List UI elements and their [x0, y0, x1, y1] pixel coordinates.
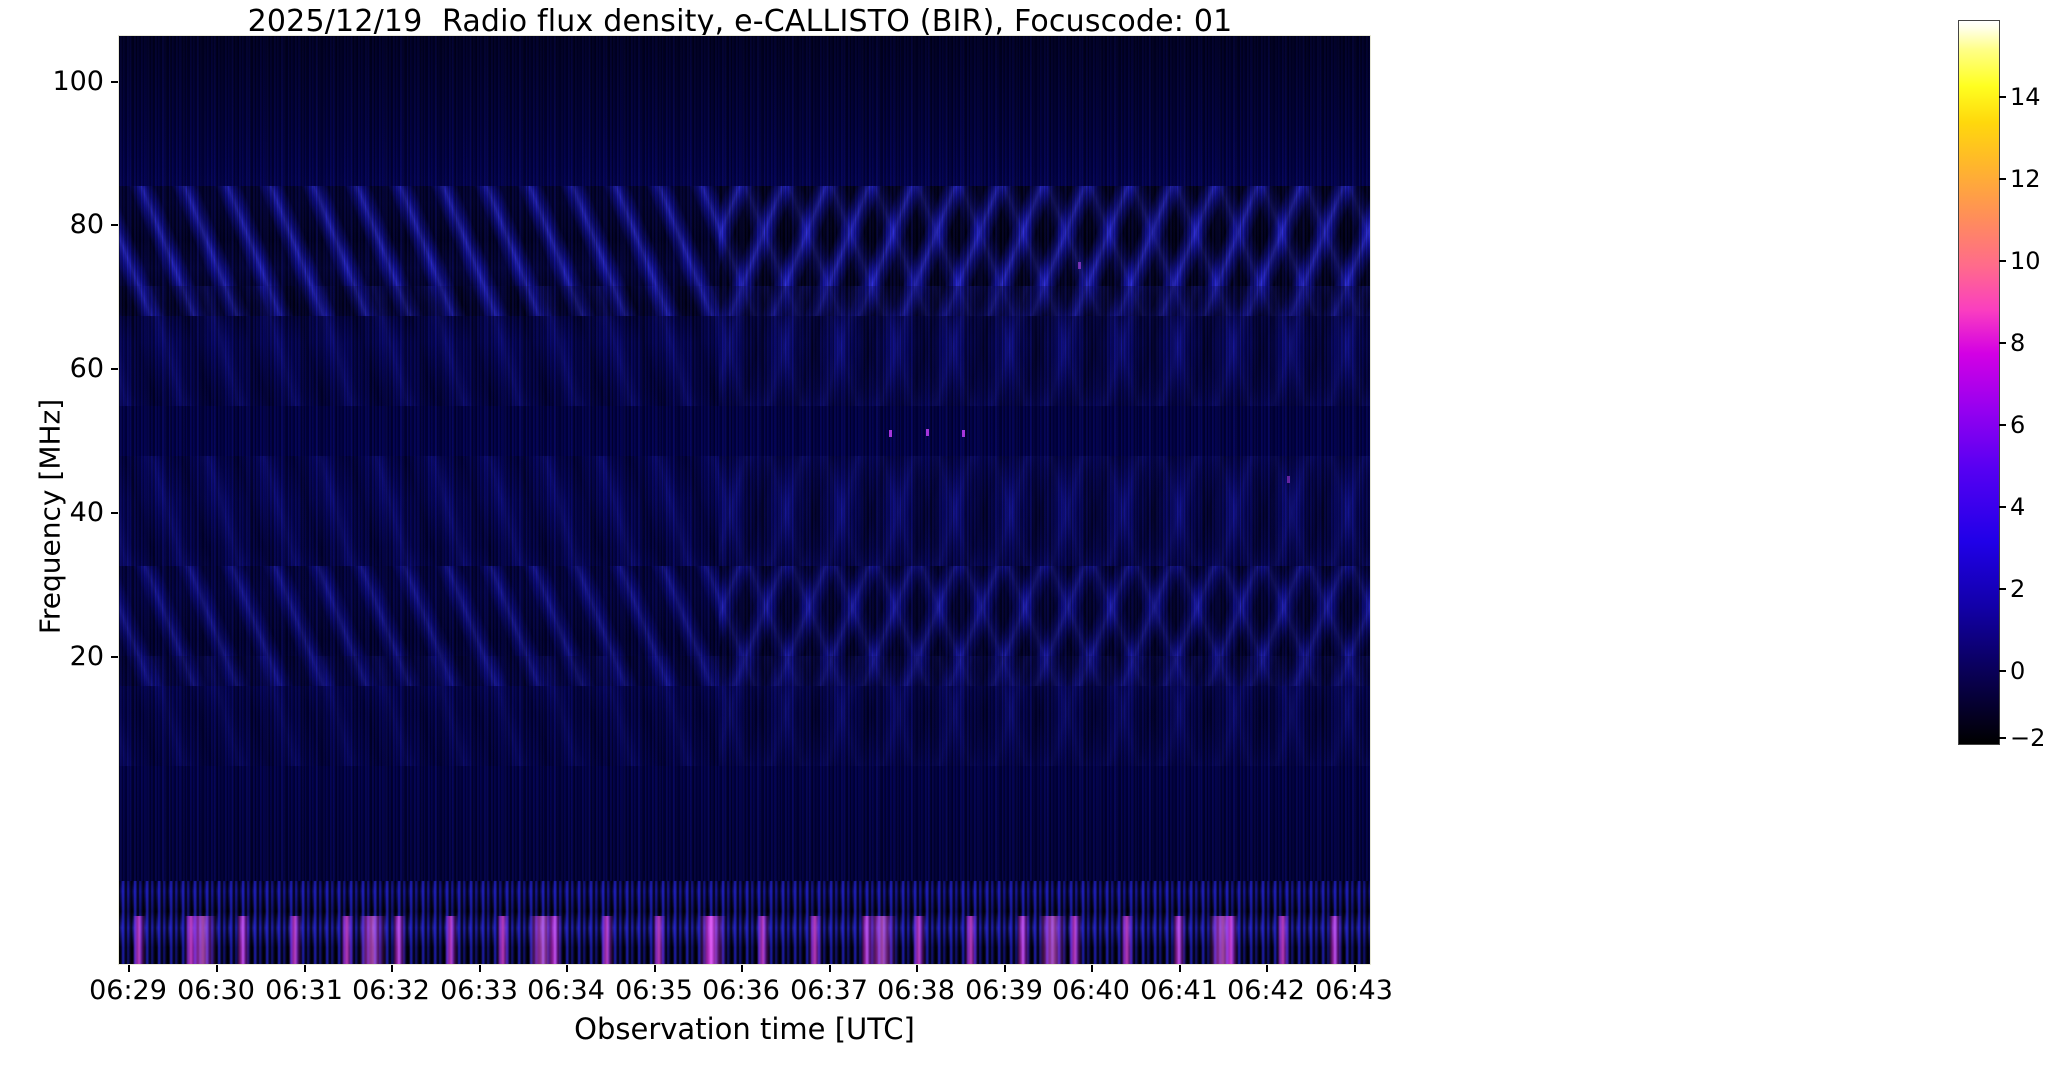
x-tick-mark — [391, 965, 393, 972]
colorbar-tick-mark — [1999, 260, 2006, 262]
hot-pixel — [1287, 476, 1290, 483]
x-tick-label: 06:43 — [1289, 977, 1419, 1004]
colorbar-tick-mark — [1999, 670, 2006, 672]
colorbar-tick-label: −2 — [2010, 726, 2056, 750]
y-axis-label: Frequency [MHz] — [34, 267, 67, 767]
colorbar-tick-label: 14 — [2010, 85, 2056, 109]
colorbar-tick-mark — [1999, 96, 2006, 98]
x-tick-mark — [1091, 965, 1093, 972]
x-tick-mark — [829, 965, 831, 972]
spectrogram-noise-speckle — [119, 36, 1370, 964]
page-title: 2025/12/19 Radio flux density, e-CALLIST… — [0, 4, 1480, 39]
y-tick-label: 80 — [18, 211, 104, 238]
colorbar-tick-mark — [1999, 178, 2006, 180]
fringe-band-upper-left — [118, 186, 1371, 316]
hot-pixel — [1078, 262, 1081, 269]
colorbar-tick-label: 2 — [2010, 577, 2056, 601]
colorbar-tick-label: 4 — [2010, 495, 2056, 519]
fringe-band-lower-left — [118, 566, 1371, 686]
fringe-band-lower-right — [719, 566, 1371, 686]
rfi-band-hot-spots — [119, 916, 1370, 965]
x-tick-mark — [566, 965, 568, 972]
hot-pixel — [926, 429, 929, 436]
fringe-band-bottom-left — [118, 656, 1371, 766]
fringe-band-mid-left — [118, 456, 1371, 566]
y-tick-mark — [111, 512, 118, 514]
colorbar-tick-mark — [1999, 506, 2006, 508]
figure-canvas: 2025/12/19 Radio flux density, e-CALLIST… — [0, 0, 2066, 1067]
x-tick-mark — [654, 965, 656, 972]
colorbar-tick-mark — [1999, 342, 2006, 344]
y-tick-mark — [111, 656, 118, 658]
y-tick-mark — [111, 368, 118, 370]
colorbar[interactable] — [1958, 20, 2000, 745]
fringe-band-mid-right — [719, 456, 1371, 566]
x-tick-mark — [916, 965, 918, 972]
colorbar-tick-mark — [1999, 588, 2006, 590]
colorbar-tick-label: 8 — [2010, 331, 2056, 355]
spectrogram-quiet-high-band — [119, 36, 1370, 964]
x-tick-mark — [1266, 965, 1268, 972]
x-tick-mark — [479, 965, 481, 972]
x-tick-mark — [128, 965, 130, 972]
hot-pixel — [889, 430, 892, 437]
x-tick-mark — [304, 965, 306, 972]
x-tick-mark — [1354, 965, 1356, 972]
colorbar-tick-mark — [1999, 424, 2006, 426]
colorbar-tick-label: 12 — [2010, 167, 2056, 191]
colorbar-tick-label: 0 — [2010, 659, 2056, 683]
y-tick-mark — [111, 224, 118, 226]
x-tick-mark — [216, 965, 218, 972]
colorbar-tick-label: 10 — [2010, 249, 2056, 273]
fringe-band-mid-upper-left — [118, 286, 1371, 406]
hot-pixel — [962, 430, 965, 437]
fringe-band-mid-upper-right — [719, 286, 1371, 406]
x-axis-label: Observation time [UTC] — [118, 1012, 1371, 1046]
fringe-band-bottom-right — [719, 656, 1371, 766]
y-tick-label: 100 — [18, 68, 104, 95]
fringe-band-upper-right — [719, 186, 1371, 316]
spectrogram-horizontal-bands — [119, 36, 1370, 964]
colorbar-tick-label: 6 — [2010, 413, 2056, 437]
x-tick-mark — [1004, 965, 1006, 972]
spectrogram-plot-area[interactable] — [118, 35, 1371, 965]
x-tick-mark — [741, 965, 743, 972]
x-tick-mark — [1179, 965, 1181, 972]
y-tick-mark — [111, 81, 118, 83]
spectrogram-noise-speckle-coarse — [119, 36, 1370, 964]
colorbar-tick-mark — [1999, 737, 2006, 739]
